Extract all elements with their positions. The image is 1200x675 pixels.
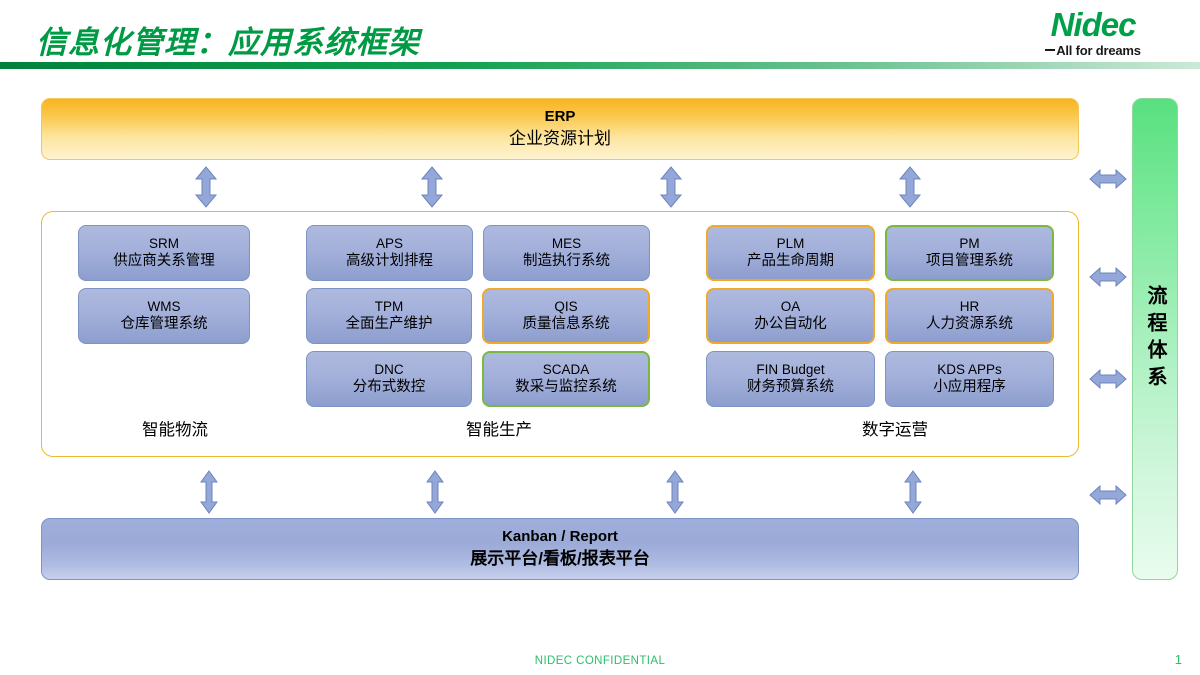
vertical-arrow-erp-1 (194, 166, 218, 208)
page-title: 信息化管理：应用系统框架 (36, 17, 420, 62)
card-label-cn: 小应用程序 (933, 378, 1006, 397)
vertical-arrow-erp-2 (420, 166, 444, 208)
card-label-en: OA (781, 298, 801, 316)
title-underline-rule (0, 62, 1200, 69)
card-label-en: TPM (375, 298, 404, 316)
footer-page-number: 1 (1175, 652, 1182, 667)
card-label-cn: 项目管理系统 (926, 252, 1013, 271)
process-system-label: 流程体系 (1145, 285, 1165, 393)
horizontal-arrow-process-3 (1089, 368, 1127, 390)
card-label-cn: 产品生命周期 (747, 252, 834, 271)
logo-tagline-row: All for dreams (1008, 44, 1178, 57)
card-label-en: DNC (374, 361, 403, 379)
column-label-operations: 数字运营 (862, 416, 928, 440)
vertical-arrow-kanban-3 (665, 470, 685, 514)
vertical-arrow-kanban-1 (199, 470, 219, 514)
system-card-fin-budget[interactable]: FIN Budget 财务预算系统 (706, 351, 875, 407)
card-label-cn: 全面生产维护 (346, 315, 433, 334)
systems-container: SRM 供应商关系管理 WMS 仓库管理系统 APS 高级计划排程 MES (41, 211, 1079, 457)
card-label-en: FIN Budget (756, 361, 824, 379)
column-operations: PLM 产品生命周期 PM 项目管理系统 OA 办公自动化 HR 人力资源系统 (706, 225, 1054, 414)
card-row: WMS 仓库管理系统 (78, 288, 250, 344)
card-label-cn: 仓库管理系统 (121, 315, 208, 334)
card-label-cn: 人力资源系统 (926, 315, 1013, 334)
system-card-pm[interactable]: PM 项目管理系统 (885, 225, 1054, 281)
logo-dash-icon (1045, 49, 1055, 51)
erp-label-cn: 企业资源计划 (509, 128, 611, 151)
card-label-en: SCADA (543, 361, 590, 379)
kanban-label-en: Kanban / Report (502, 527, 618, 547)
slide-root: 信息化管理：应用系统框架 Nidec All for dreams ERP 企业… (0, 0, 1200, 675)
card-label-cn: 财务预算系统 (747, 378, 834, 397)
vertical-arrow-kanban-4 (903, 470, 923, 514)
horizontal-arrow-process-4 (1089, 484, 1127, 506)
card-row: SRM 供应商关系管理 (78, 225, 250, 281)
card-label-cn: 供应商关系管理 (113, 252, 215, 271)
system-card-dnc[interactable]: DNC 分布式数控 (306, 351, 472, 407)
system-card-tpm[interactable]: TPM 全面生产维护 (306, 288, 472, 344)
card-label-en: PLM (777, 235, 805, 253)
footer-confidential-notice: NIDEC CONFIDENTIAL (0, 655, 1200, 667)
logo-wordmark: Nidec (1008, 8, 1178, 41)
card-label-en: HR (960, 298, 980, 316)
column-label-production: 智能生产 (466, 416, 532, 440)
system-card-srm[interactable]: SRM 供应商关系管理 (78, 225, 250, 281)
erp-label-en: ERP (545, 107, 576, 127)
column-logistics: SRM 供应商关系管理 WMS 仓库管理系统 (78, 225, 250, 351)
card-label-cn: 高级计划排程 (346, 252, 433, 271)
process-system-bar[interactable]: 流程体系 (1132, 98, 1178, 580)
card-row: PLM 产品生命周期 PM 项目管理系统 (706, 225, 1054, 281)
system-card-kds-apps[interactable]: KDS APPs 小应用程序 (885, 351, 1054, 407)
card-label-cn: 分布式数控 (353, 378, 426, 397)
logo-tagline: All for dreams (1056, 43, 1141, 58)
horizontal-arrow-process-2 (1089, 266, 1127, 288)
card-label-en: KDS APPs (937, 361, 1002, 379)
card-label-cn: 制造执行系统 (523, 252, 610, 271)
system-card-scada[interactable]: SCADA 数采与监控系统 (482, 351, 650, 407)
card-label-cn: 数采与监控系统 (515, 378, 617, 397)
system-card-mes[interactable]: MES 制造执行系统 (483, 225, 650, 281)
card-label-en: WMS (148, 298, 181, 316)
system-card-oa[interactable]: OA 办公自动化 (706, 288, 875, 344)
system-card-wms[interactable]: WMS 仓库管理系统 (78, 288, 250, 344)
card-row: OA 办公自动化 HR 人力资源系统 (706, 288, 1054, 344)
card-row: TPM 全面生产维护 QIS 质量信息系统 (306, 288, 650, 344)
column-label-logistics: 智能物流 (142, 416, 208, 440)
erp-bar[interactable]: ERP 企业资源计划 (41, 98, 1079, 160)
nidec-logo: Nidec All for dreams (1008, 8, 1178, 57)
system-card-qis[interactable]: QIS 质量信息系统 (482, 288, 650, 344)
card-label-en: SRM (149, 235, 179, 253)
system-card-aps[interactable]: APS 高级计划排程 (306, 225, 473, 281)
card-row: APS 高级计划排程 MES 制造执行系统 (306, 225, 650, 281)
horizontal-arrow-process-1 (1089, 168, 1127, 190)
slide-header: 信息化管理：应用系统框架 Nidec All for dreams (0, 0, 1200, 78)
vertical-arrow-erp-4 (898, 166, 922, 208)
kanban-report-bar[interactable]: Kanban / Report 展示平台/看板/报表平台 (41, 518, 1079, 580)
card-label-en: PM (959, 235, 979, 253)
vertical-arrow-kanban-2 (425, 470, 445, 514)
card-label-en: APS (376, 235, 403, 253)
card-label-cn: 质量信息系统 (523, 315, 610, 334)
system-card-hr[interactable]: HR 人力资源系统 (885, 288, 1054, 344)
card-row: DNC 分布式数控 SCADA 数采与监控系统 (306, 351, 650, 407)
kanban-label-cn: 展示平台/看板/报表平台 (470, 548, 649, 571)
vertical-arrow-erp-3 (659, 166, 683, 208)
card-label-en: MES (552, 235, 581, 253)
card-label-en: QIS (554, 298, 577, 316)
system-card-plm[interactable]: PLM 产品生命周期 (706, 225, 875, 281)
card-row: FIN Budget 财务预算系统 KDS APPs 小应用程序 (706, 351, 1054, 407)
card-label-cn: 办公自动化 (754, 315, 827, 334)
column-production: APS 高级计划排程 MES 制造执行系统 TPM 全面生产维护 QIS 质量信… (306, 225, 650, 414)
